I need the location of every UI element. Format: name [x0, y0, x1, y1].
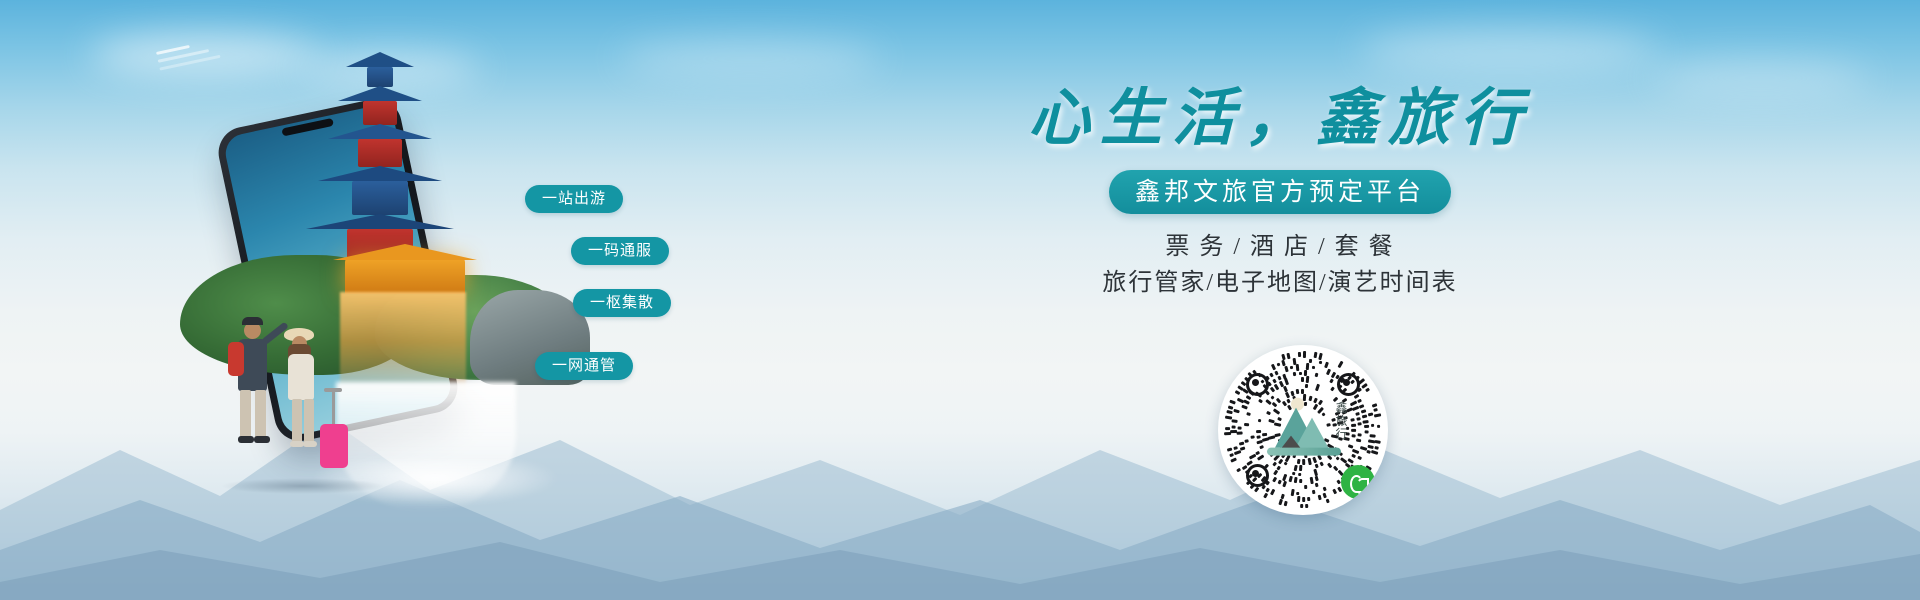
ground-shadow [220, 478, 385, 494]
feature-pill-2[interactable]: 一枢集散 [573, 289, 671, 317]
feature-pill-label: 一码通服 [571, 237, 669, 265]
golden-pavilion-illustration [345, 258, 465, 294]
qr-finder-icon [1246, 464, 1269, 487]
feature-pill-3[interactable]: 一网通管 [535, 352, 633, 380]
phone-screen-ui [156, 37, 229, 75]
official-platform-badge: 鑫邦文旅官方预定平台 [1109, 170, 1451, 214]
wechat-miniprogram-icon [1341, 465, 1375, 499]
feature-pill-0[interactable]: 一站出游 [525, 185, 623, 213]
cloud-decoration [1360, 28, 1660, 74]
qr-finder-icon [1337, 373, 1360, 396]
feature-pill-label: 一站出游 [525, 185, 623, 213]
cloud-decoration [1650, 60, 1870, 96]
service-list-line-2: 旅行管家/电子地图/演艺时间表 [1000, 266, 1560, 300]
service-list-line-1: 票 务 / 酒 店 / 套 餐 [1000, 230, 1560, 264]
banner-headline: 心生活，鑫旅行 [1000, 82, 1560, 156]
qr-brand-name: 鑫旅行 [1334, 402, 1347, 441]
brand-logo-icon: 鑫旅行 [1261, 394, 1345, 464]
promo-text-block: 心生活，鑫旅行 鑫邦文旅官方预定平台 票 务 / 酒 店 / 套 餐 旅行管家/… [1000, 82, 1560, 300]
qr-code-disc: 鑫旅行 [1218, 345, 1388, 515]
qr-finder-icon [1246, 373, 1269, 396]
qr-code[interactable]: 鑫旅行 [1218, 345, 1388, 515]
feature-pill-label: 一网通管 [535, 352, 633, 380]
travel-promo-banner: 一站出游 一码通服 一枢集散 一网通管 心生活，鑫旅行 鑫邦文旅官方预定平台 票… [0, 0, 1920, 600]
feature-pill-label: 一枢集散 [573, 289, 671, 317]
feature-pill-1[interactable]: 一码通服 [571, 237, 669, 265]
travellers-illustration [200, 300, 390, 490]
